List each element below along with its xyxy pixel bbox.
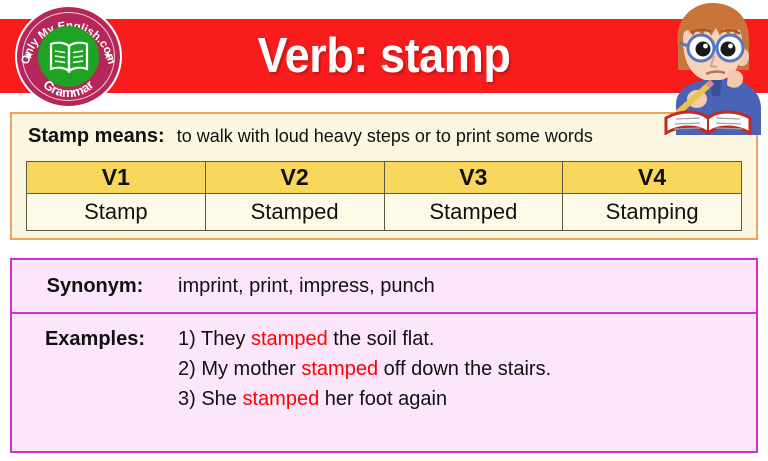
verb-form-v1: Stamp <box>27 194 206 231</box>
column-header-v4: V4 <box>563 162 742 194</box>
examples-list: 1) They stamped the soil flat.2) My moth… <box>178 328 551 410</box>
example-highlight: stamped <box>251 328 328 350</box>
synonym-row: Synonym: imprint, print, impress, punch <box>12 260 756 314</box>
thinking-student-icon <box>650 0 766 135</box>
column-header-v3: V3 <box>384 162 563 194</box>
column-header-v2: V2 <box>205 162 384 194</box>
definition-label: Stamp means: <box>28 125 165 148</box>
verb-form-v3: Stamped <box>384 194 563 231</box>
table-header-row: V1 V2 V3 V4 <box>27 162 742 194</box>
details-panel: Synonym: imprint, print, impress, punch … <box>10 258 758 453</box>
verb-form-v4: Stamping <box>563 194 742 231</box>
logo-star-right-icon: ★ <box>103 51 113 62</box>
example-item: 1) They stamped the soil flat. <box>178 328 551 350</box>
definition-row: Stamp means: to walk with loud heavy ste… <box>12 114 756 159</box>
example-prefix: 2) My mother <box>178 358 301 380</box>
definition-panel: Stamp means: to walk with loud heavy ste… <box>10 112 758 240</box>
example-highlight: stamped <box>242 388 319 410</box>
examples-label: Examples: <box>12 328 178 351</box>
example-suffix: the soil flat. <box>328 328 435 350</box>
example-suffix: her foot again <box>319 388 447 410</box>
logo-star-left-icon: ★ <box>24 51 34 62</box>
table-row: Stamp Stamped Stamped Stamping <box>27 194 742 231</box>
verb-form-v2: Stamped <box>205 194 384 231</box>
example-item: 2) My mother stamped off down the stairs… <box>178 358 551 380</box>
verb-forms-table: V1 V2 V3 V4 Stamp Stamped Stamped Stampi… <box>26 161 742 231</box>
logo-center-circle <box>38 26 99 87</box>
open-book-icon <box>38 26 99 87</box>
column-header-v1: V1 <box>27 162 206 194</box>
definition-text: to walk with loud heavy steps or to prin… <box>177 126 593 147</box>
page-title: Verb: stamp <box>31 19 738 93</box>
example-item: 3) She stamped her foot again <box>178 388 551 410</box>
example-prefix: 3) She <box>178 388 242 410</box>
examples-row: Examples: 1) They stamped the soil flat.… <box>12 314 756 451</box>
example-prefix: 1) They <box>178 328 251 350</box>
site-logo: Only My English.com Grammar ★ ★ <box>17 7 120 106</box>
example-highlight: stamped <box>301 358 378 380</box>
example-suffix: off down the stairs. <box>378 358 551 380</box>
synonym-text: imprint, print, impress, punch <box>178 275 435 298</box>
synonym-label: Synonym: <box>12 275 178 298</box>
